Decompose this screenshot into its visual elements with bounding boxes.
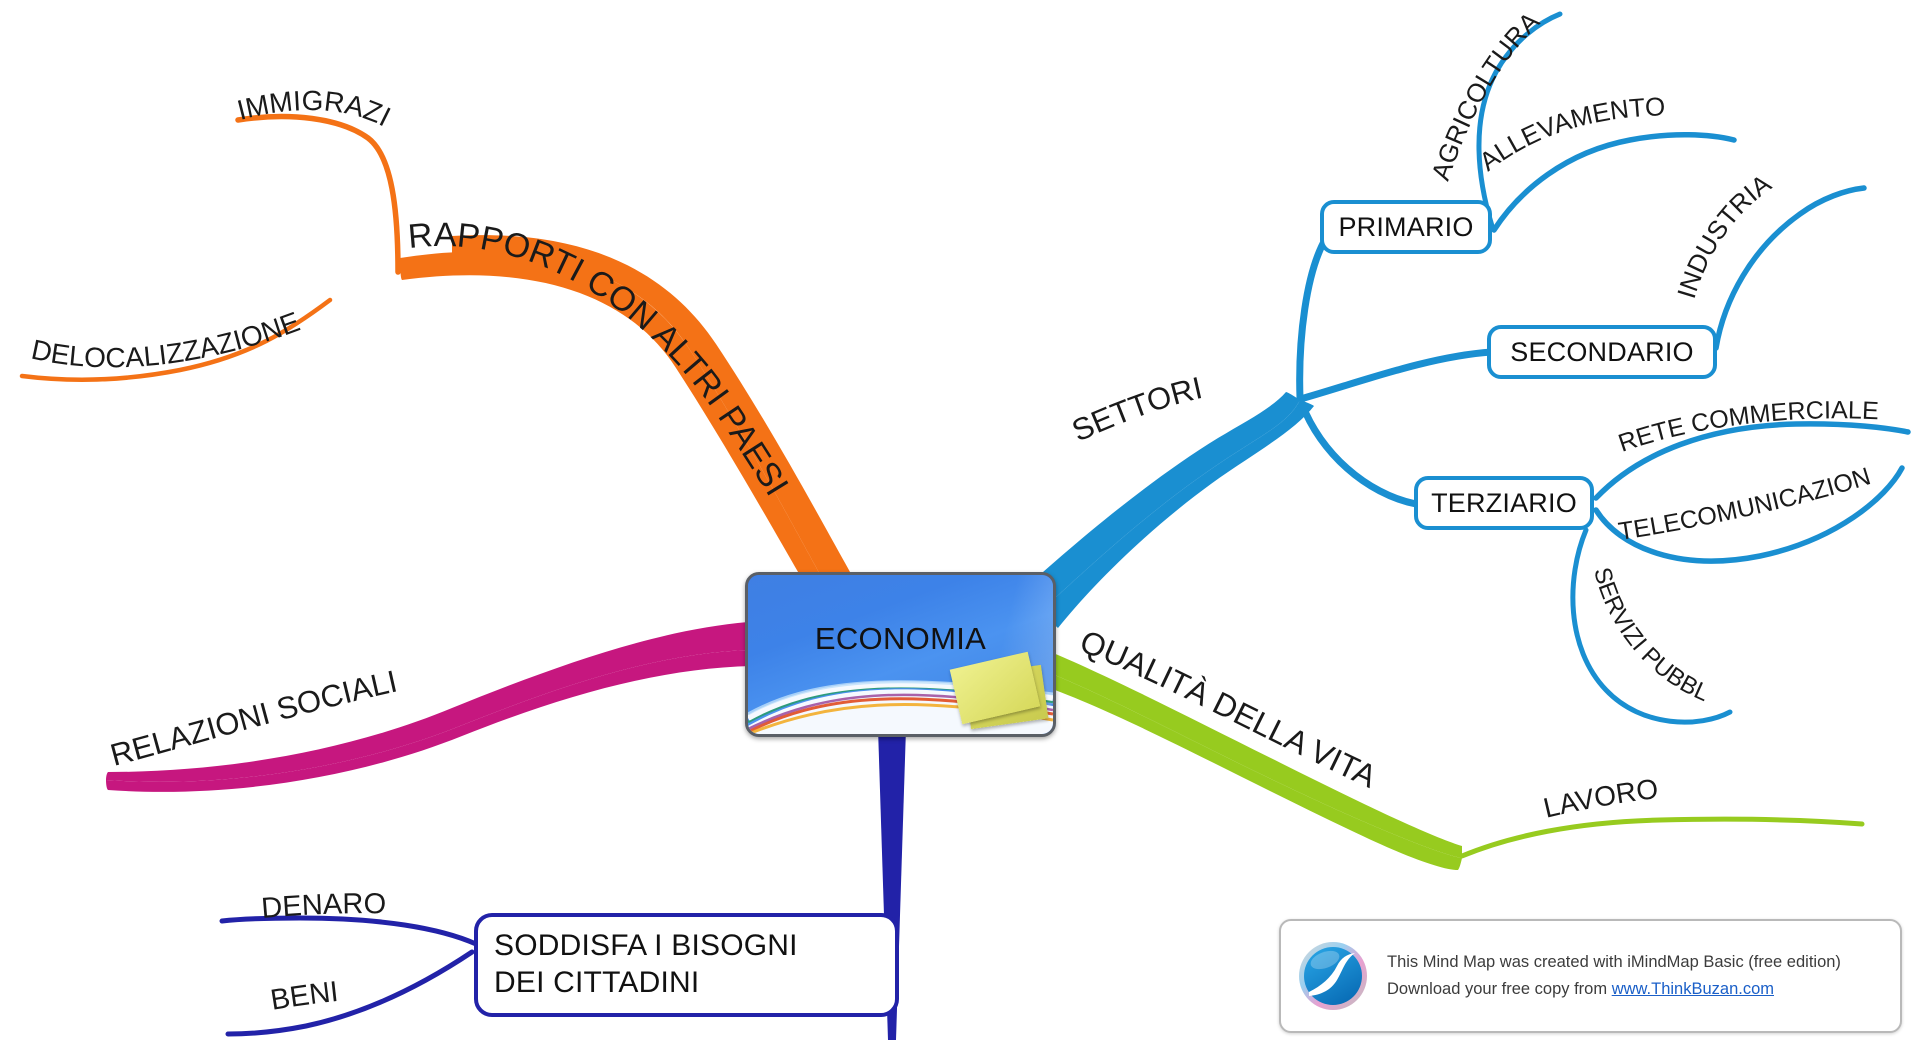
branch-label-delocalizzazione: DELOCALIZZAZIONE xyxy=(29,306,304,374)
branch-label-lavoro: LAVORO xyxy=(1540,773,1659,824)
imindmap-logo-icon xyxy=(1297,940,1369,1012)
connector-settori-terziario xyxy=(1302,404,1416,504)
branch-label-telecomunicazioni: TELECOMUNICAZIONI xyxy=(0,0,1874,546)
branch-immigrazione-stroke xyxy=(238,117,398,272)
thinkbuzan-link[interactable]: www.ThinkBuzan.com xyxy=(1612,980,1774,998)
branch-label-denaro: DENARO xyxy=(260,888,386,925)
branch-rapporti-con-altri-paesi[interactable]: RAPPORTI CON ALTRI PAESI IMMIGRAZIONE DE… xyxy=(0,0,858,596)
node-soddisfa-i-bisogni[interactable]: SODDISFA I BISOGNI DEI CITTADINI xyxy=(474,913,899,1017)
watermark-line2: Download your free copy from www.ThinkBu… xyxy=(1387,976,1841,1003)
branch-settori-stroke xyxy=(1012,392,1300,612)
central-node-label: ECONOMIA xyxy=(748,621,1053,657)
branch-relazioni-sociali[interactable]: RELAZIONI SOCIALI xyxy=(106,622,752,792)
node-primario-label: PRIMARIO xyxy=(1338,212,1473,243)
sticky-note-icon xyxy=(955,660,1047,726)
node-secondario-label: SECONDARIO xyxy=(1510,337,1694,368)
node-secondario[interactable]: SECONDARIO xyxy=(1487,325,1717,379)
watermark-text: This Mind Map was created with iMindMap … xyxy=(1387,949,1841,1002)
node-terziario[interactable]: TERZIARIO xyxy=(1414,476,1594,530)
branch-label-beni: BENI xyxy=(268,976,340,1017)
branch-label-settori: SETTORI xyxy=(1067,370,1206,448)
branch-label-industria: INDUSTRIA xyxy=(1671,168,1777,302)
node-soddisfa-line2: DEI CITTADINI xyxy=(494,965,699,1002)
watermark-line1: This Mind Map was created with iMindMap … xyxy=(1387,949,1841,976)
branch-lavoro-stroke xyxy=(1462,819,1862,856)
mindmap-canvas: RAPPORTI CON ALTRI PAESI IMMIGRAZIONE DE… xyxy=(0,0,1920,1044)
node-terziario-label: TERZIARIO xyxy=(1431,488,1577,519)
branch-qualita-della-vita[interactable]: QUALITÀ DELLA VITA LAVORO xyxy=(1038,623,1862,870)
node-primario[interactable]: PRIMARIO xyxy=(1320,200,1492,254)
imindmap-watermark: This Mind Map was created with iMindMap … xyxy=(1279,919,1902,1033)
connector-settori-secondario xyxy=(1304,352,1492,398)
branch-relazioni-stroke xyxy=(106,622,752,782)
node-soddisfa-line1: SODDISFA I BISOGNI xyxy=(494,928,798,965)
branch-label-immigrazione: IMMIGRAZIONE xyxy=(0,0,395,132)
branch-qualita-stroke xyxy=(1042,650,1462,858)
branch-beni-stroke xyxy=(228,952,472,1034)
connector-settori-primario xyxy=(1300,238,1326,398)
branch-denaro-stroke xyxy=(222,918,476,944)
mindmap-branches-svg: RAPPORTI CON ALTRI PAESI IMMIGRAZIONE DE… xyxy=(0,0,1920,1044)
watermark-line2-prefix: Download your free copy from xyxy=(1387,980,1612,998)
